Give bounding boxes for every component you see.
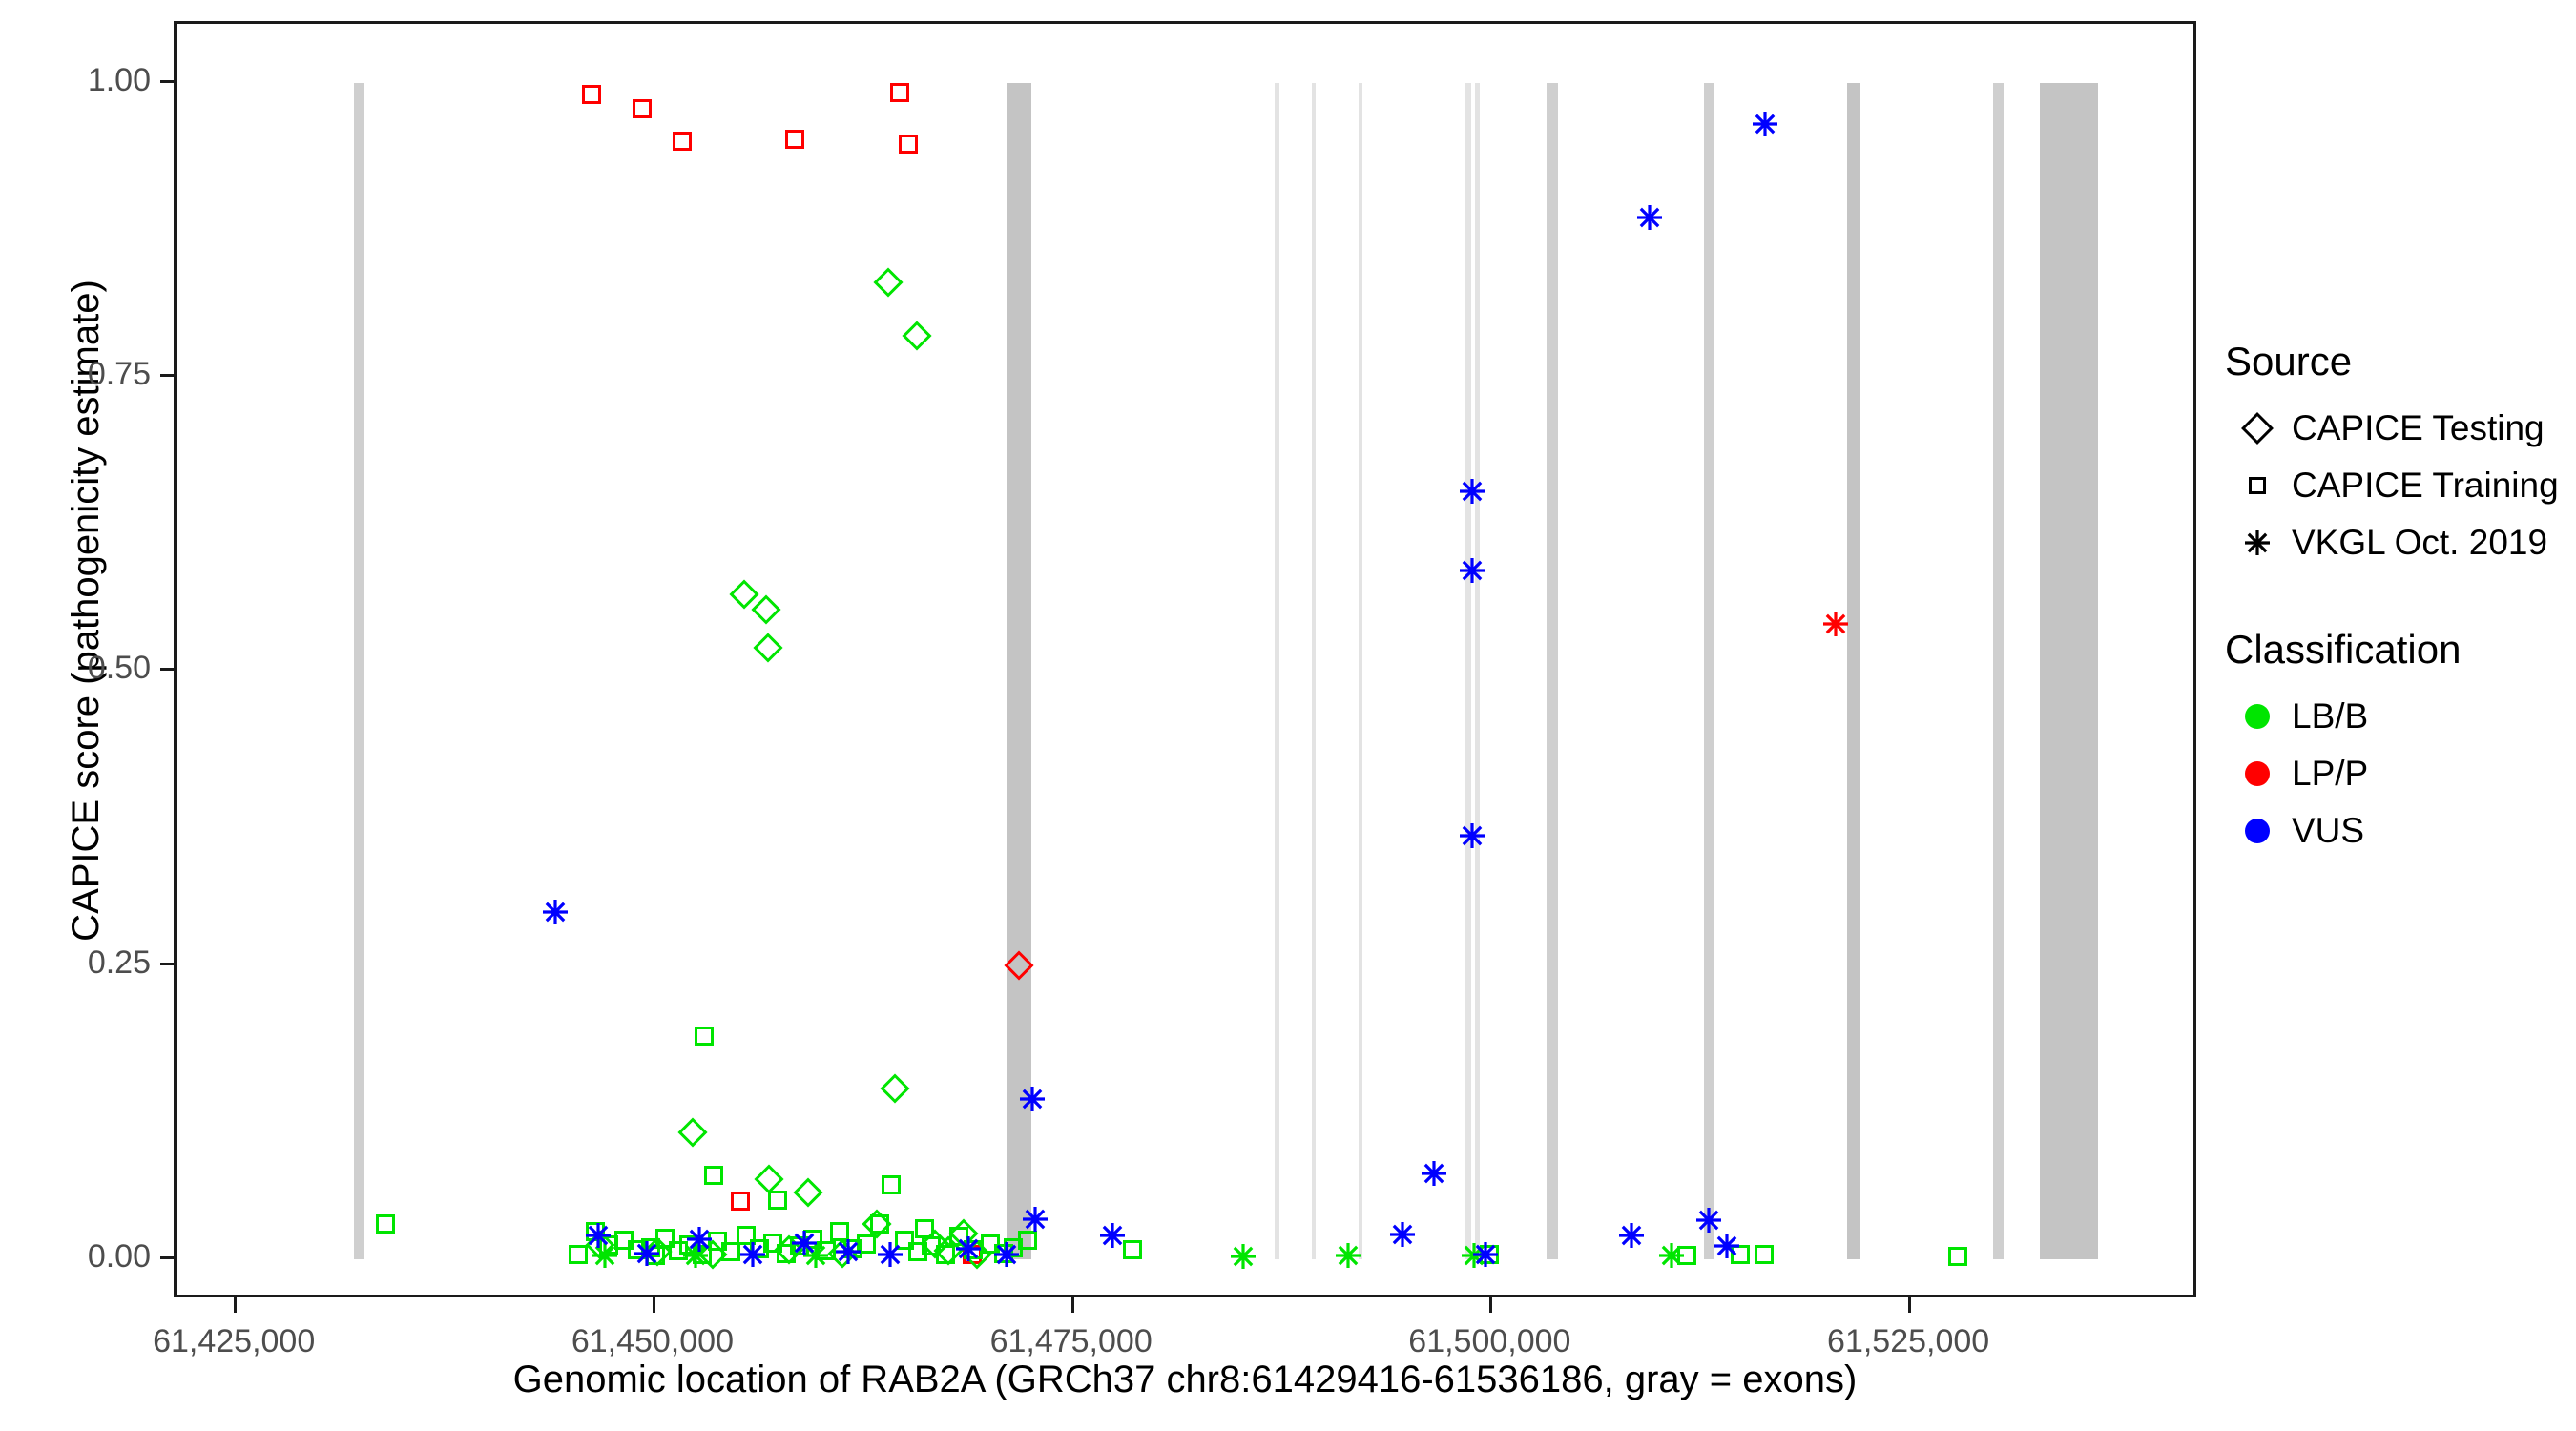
legend-item-label: CAPICE Testing — [2292, 400, 2545, 457]
data-point — [693, 1245, 712, 1264]
data-point — [834, 1237, 862, 1266]
asterisk-marker-icon — [2223, 514, 2292, 571]
data-point — [922, 1236, 941, 1255]
data-point — [697, 1239, 727, 1269]
legend-item-vus[interactable]: VUS — [2223, 802, 2566, 860]
legend-spacer — [2223, 571, 2566, 627]
data-point — [949, 1227, 968, 1246]
data-point — [738, 1240, 767, 1269]
x-axis-tick-label: 61,525,000 — [1765, 1322, 2051, 1360]
data-point — [793, 1177, 822, 1207]
exon-band — [1007, 83, 1030, 1259]
data-point — [763, 1234, 782, 1253]
legend-item-label: LB/B — [2292, 688, 2368, 745]
data-point — [586, 1222, 605, 1241]
data-point — [790, 1236, 809, 1255]
data-point — [669, 1241, 688, 1260]
data-point — [882, 1175, 901, 1194]
x-axis-title: Genomic location of RAB2A (GRCh37 chr8:6… — [174, 1355, 2196, 1404]
data-point — [1657, 1241, 1686, 1270]
y-axis-tick — [160, 80, 174, 83]
data-point — [1713, 1232, 1741, 1260]
data-point — [1458, 477, 1486, 506]
exon-band — [1465, 83, 1470, 1259]
data-point — [655, 1229, 675, 1248]
data-point — [1635, 203, 1664, 232]
plot-panel — [174, 21, 2196, 1297]
color-dot-icon — [2223, 688, 2292, 745]
legend-item-lp-p[interactable]: LP/P — [2223, 745, 2566, 802]
data-point — [803, 1230, 822, 1249]
data-point — [591, 1241, 619, 1270]
data-point — [790, 1229, 819, 1257]
y-axis-tick — [160, 1256, 174, 1259]
data-point — [584, 1221, 613, 1250]
y-axis-title: CAPICE score (pathogenicity estimate) — [57, 0, 114, 1259]
data-point — [376, 1214, 395, 1234]
x-axis-tick-label: 61,475,000 — [928, 1322, 1215, 1360]
legend-source-group: CAPICE TestingCAPICE TrainingVKGL Oct. 2… — [2223, 400, 2566, 571]
data-point — [1617, 1221, 1646, 1250]
data-point — [1948, 1247, 1967, 1266]
data-point — [873, 268, 903, 298]
x-axis-tick-label: 61,450,000 — [509, 1322, 796, 1360]
data-point — [731, 1192, 750, 1211]
data-point — [1731, 1245, 1750, 1264]
legend-item-label: VUS — [2292, 802, 2364, 860]
data-point — [646, 1246, 665, 1265]
data-point — [899, 135, 918, 154]
y-axis-tick-label: 0.50 — [8, 652, 151, 684]
data-point — [641, 1238, 660, 1257]
x-axis-tick — [1908, 1297, 1911, 1313]
legend-item-label: LP/P — [2292, 745, 2368, 802]
data-point — [1677, 1246, 1696, 1265]
color-dot-icon — [2223, 802, 2292, 860]
data-point — [599, 1235, 618, 1255]
legend-item-label: CAPICE Training — [2292, 457, 2559, 514]
data-point — [936, 1245, 955, 1264]
exon-band — [1704, 83, 1714, 1259]
exon-band — [2040, 83, 2098, 1259]
data-point — [633, 99, 652, 118]
legend-title-source: Source — [2225, 339, 2566, 384]
data-point — [890, 83, 909, 102]
color-dot-icon — [2223, 745, 2292, 802]
data-point — [785, 130, 804, 149]
data-point — [902, 321, 931, 350]
data-point — [775, 1234, 804, 1264]
x-axis-tick-label: 61,500,000 — [1346, 1322, 1632, 1360]
data-point — [817, 1241, 836, 1260]
legend-title-classification: Classification — [2225, 627, 2566, 673]
data-point — [685, 1225, 714, 1254]
data-point — [737, 1226, 756, 1245]
y-axis-tick-label: 0.00 — [8, 1240, 151, 1273]
data-point — [981, 1234, 1000, 1254]
exon-band — [1359, 83, 1362, 1259]
data-point — [708, 1232, 727, 1251]
data-point — [1458, 556, 1486, 585]
data-point — [751, 595, 780, 625]
legend: Source CAPICE TestingCAPICE TrainingVKGL… — [2223, 339, 2566, 860]
chart-root: CAPICE score (pathogenicity estimate) Ge… — [0, 0, 2576, 1431]
y-axis-tick — [160, 668, 174, 671]
data-point — [1480, 1245, 1499, 1264]
data-point — [954, 1234, 983, 1263]
data-point — [1755, 1245, 1774, 1264]
data-point — [948, 1218, 978, 1248]
x-axis-tick — [1489, 1297, 1492, 1313]
data-point — [1821, 610, 1850, 638]
legend-item-diamond[interactable]: CAPICE Testing — [2223, 400, 2566, 457]
x-axis-tick — [234, 1297, 237, 1313]
data-point — [541, 898, 570, 926]
data-point — [585, 1230, 614, 1259]
diamond-marker-icon — [2223, 400, 2292, 457]
data-point — [614, 1231, 634, 1250]
x-axis-tick — [1071, 1297, 1074, 1313]
y-axis-tick-label: 0.75 — [8, 358, 151, 390]
data-point — [729, 580, 758, 610]
data-point — [1098, 1221, 1127, 1250]
data-point — [1388, 1220, 1417, 1249]
legend-item-asterisk[interactable]: VKGL Oct. 2019 — [2223, 514, 2566, 571]
plot-surface — [177, 24, 2193, 1295]
legend-item-lb-b[interactable]: LB/B — [2223, 688, 2566, 745]
data-point — [830, 1222, 849, 1241]
data-point — [753, 633, 782, 662]
data-point — [750, 1239, 769, 1258]
data-point — [695, 1027, 714, 1046]
data-point — [895, 1231, 914, 1250]
data-point — [964, 1240, 983, 1259]
data-point — [843, 1239, 862, 1258]
data-point — [721, 1242, 740, 1261]
exon-band — [1847, 83, 1860, 1259]
exon-band — [1547, 83, 1558, 1259]
data-point — [857, 1234, 876, 1254]
x-axis-tick-label: 61,425,000 — [91, 1322, 377, 1360]
data-point — [933, 1236, 963, 1266]
exon-band — [354, 83, 364, 1259]
exon-band — [1275, 83, 1279, 1259]
data-point — [908, 1242, 927, 1261]
data-point — [876, 1240, 904, 1269]
data-point — [920, 1229, 949, 1258]
data-point — [633, 1239, 661, 1268]
data-point — [1123, 1240, 1142, 1259]
square-marker-icon — [2223, 457, 2292, 514]
data-point — [704, 1166, 723, 1185]
data-point — [962, 1239, 991, 1269]
legend-classification-group: LB/BLP/PVUS — [2223, 688, 2566, 860]
data-point — [870, 1214, 889, 1234]
data-point — [1458, 821, 1486, 850]
legend-item-square[interactable]: CAPICE Training — [2223, 457, 2566, 514]
data-point — [963, 1245, 982, 1264]
y-axis-tick-label: 1.00 — [8, 64, 151, 96]
exon-band — [1475, 83, 1480, 1259]
data-point — [1751, 110, 1779, 138]
data-point — [862, 1209, 891, 1238]
data-point — [755, 1164, 784, 1193]
data-point — [673, 132, 692, 151]
data-point — [915, 1219, 934, 1238]
data-point — [880, 1073, 909, 1103]
data-point — [642, 1237, 672, 1267]
data-point — [768, 1191, 787, 1210]
y-axis-tick — [160, 963, 174, 965]
exon-band — [1993, 83, 2004, 1259]
data-point — [569, 1245, 588, 1264]
y-axis-tick-label: 0.25 — [8, 946, 151, 979]
data-point — [777, 1244, 796, 1263]
data-point — [828, 1238, 858, 1268]
data-point — [1420, 1159, 1448, 1188]
y-axis-tick — [160, 374, 174, 377]
data-point — [681, 1241, 710, 1270]
data-point — [679, 1235, 698, 1255]
x-axis-tick — [653, 1297, 655, 1313]
data-point — [677, 1117, 707, 1147]
data-point — [801, 1241, 830, 1270]
data-point — [628, 1240, 647, 1259]
data-point — [582, 85, 601, 104]
legend-item-label: VKGL Oct. 2019 — [2292, 514, 2547, 571]
exon-band — [1312, 83, 1316, 1259]
data-point — [1229, 1242, 1257, 1271]
